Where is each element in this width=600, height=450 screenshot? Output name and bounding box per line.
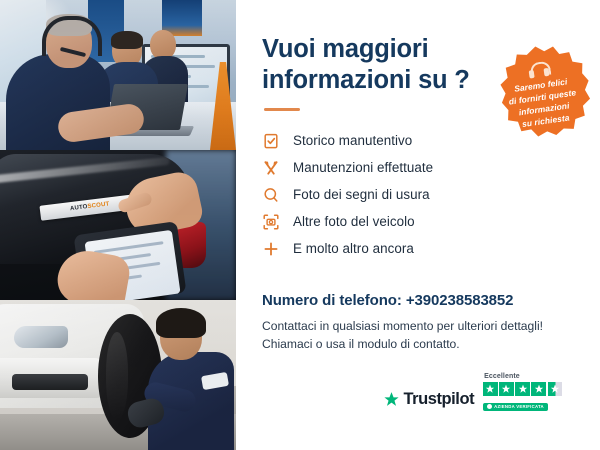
trustpilot-rating: Eccellente bbox=[483, 373, 562, 415]
agent-two-hair bbox=[111, 31, 143, 49]
contact-description: Contattaci in qualsiasi momento per ulte… bbox=[262, 318, 578, 353]
plus-icon bbox=[262, 240, 280, 258]
verified-check-icon bbox=[487, 404, 492, 409]
crossed-wrenches-icon bbox=[262, 159, 280, 177]
list-item-label: E molto altro ancora bbox=[293, 242, 414, 255]
star-icon bbox=[483, 382, 498, 397]
star-rating bbox=[483, 382, 562, 397]
on-request-badge: Saremo felici di fornirti queste informa… bbox=[488, 40, 596, 148]
verified-label: AZIENDA VERIFICATA bbox=[494, 404, 544, 409]
headline-underline bbox=[264, 108, 300, 111]
phone-label: Numero di telefono: bbox=[262, 292, 402, 309]
page-title: Vuoi maggiori informazioni su ? bbox=[262, 34, 482, 96]
camera-frame-icon bbox=[262, 213, 280, 231]
feature-list: Storico manutentivo Manutenzioni effettu… bbox=[262, 127, 578, 262]
mechanic-hair bbox=[156, 308, 206, 338]
photo-column: AUTOSCOUT bbox=[0, 0, 236, 450]
verified-badge: AZIENDA VERIFICATA bbox=[483, 403, 548, 411]
list-item: Foto dei segni di usura bbox=[262, 181, 578, 208]
trustpilot-logo: Trustpilot bbox=[383, 390, 474, 414]
contact-line-1: Contattaci in qualsiasi momento per ulte… bbox=[262, 318, 578, 336]
list-item-label: Storico manutentivo bbox=[293, 134, 412, 147]
list-item-label: Altre foto del veicolo bbox=[293, 215, 415, 228]
car-headlight bbox=[14, 326, 68, 348]
list-item-label: Foto dei segni di usura bbox=[293, 188, 430, 201]
headline-line-1: Vuoi maggiori bbox=[262, 35, 428, 63]
mechanic-wheel-inspection-photo bbox=[0, 300, 236, 450]
rating-label: Eccellente bbox=[484, 373, 562, 380]
phone-line: Numero di telefono: +390238583852 bbox=[262, 292, 578, 309]
vehicle-info-banner: AUTOSCOUT bbox=[0, 0, 600, 450]
star-icon bbox=[531, 382, 546, 397]
content-panel: Vuoi maggiori informazioni su ? Saremo f… bbox=[236, 0, 600, 450]
star-icon-half bbox=[548, 382, 563, 397]
strip-logo: AUTOSCOUT bbox=[70, 201, 110, 212]
headline-line-2: informazioni su ? bbox=[262, 66, 470, 94]
list-item: Manutenzioni effettuate bbox=[262, 154, 578, 181]
list-item: E molto altro ancora bbox=[262, 235, 578, 262]
trustpilot-star-icon bbox=[383, 391, 400, 408]
magnifier-icon bbox=[262, 186, 280, 204]
list-item: Altre foto del veicolo bbox=[262, 208, 578, 235]
car-grille bbox=[12, 374, 88, 390]
clipboard-check-icon bbox=[262, 132, 280, 150]
headset-icon bbox=[528, 61, 550, 80]
list-item-label: Manutenzioni effettuate bbox=[293, 161, 433, 174]
contact-line-2: Chiamaci o usa il modulo di contatto. bbox=[262, 336, 578, 354]
trustpilot-name: Trustpilot bbox=[403, 390, 474, 409]
paint-gauge-inspection-photo: AUTOSCOUT bbox=[0, 150, 236, 300]
trustpilot-widget[interactable]: Trustpilot Eccellente bbox=[383, 373, 562, 415]
call-center-agents-photo bbox=[0, 0, 236, 150]
star-icon bbox=[499, 382, 514, 397]
star-icon bbox=[515, 382, 530, 397]
phone-number[interactable]: +390238583852 bbox=[406, 292, 514, 309]
